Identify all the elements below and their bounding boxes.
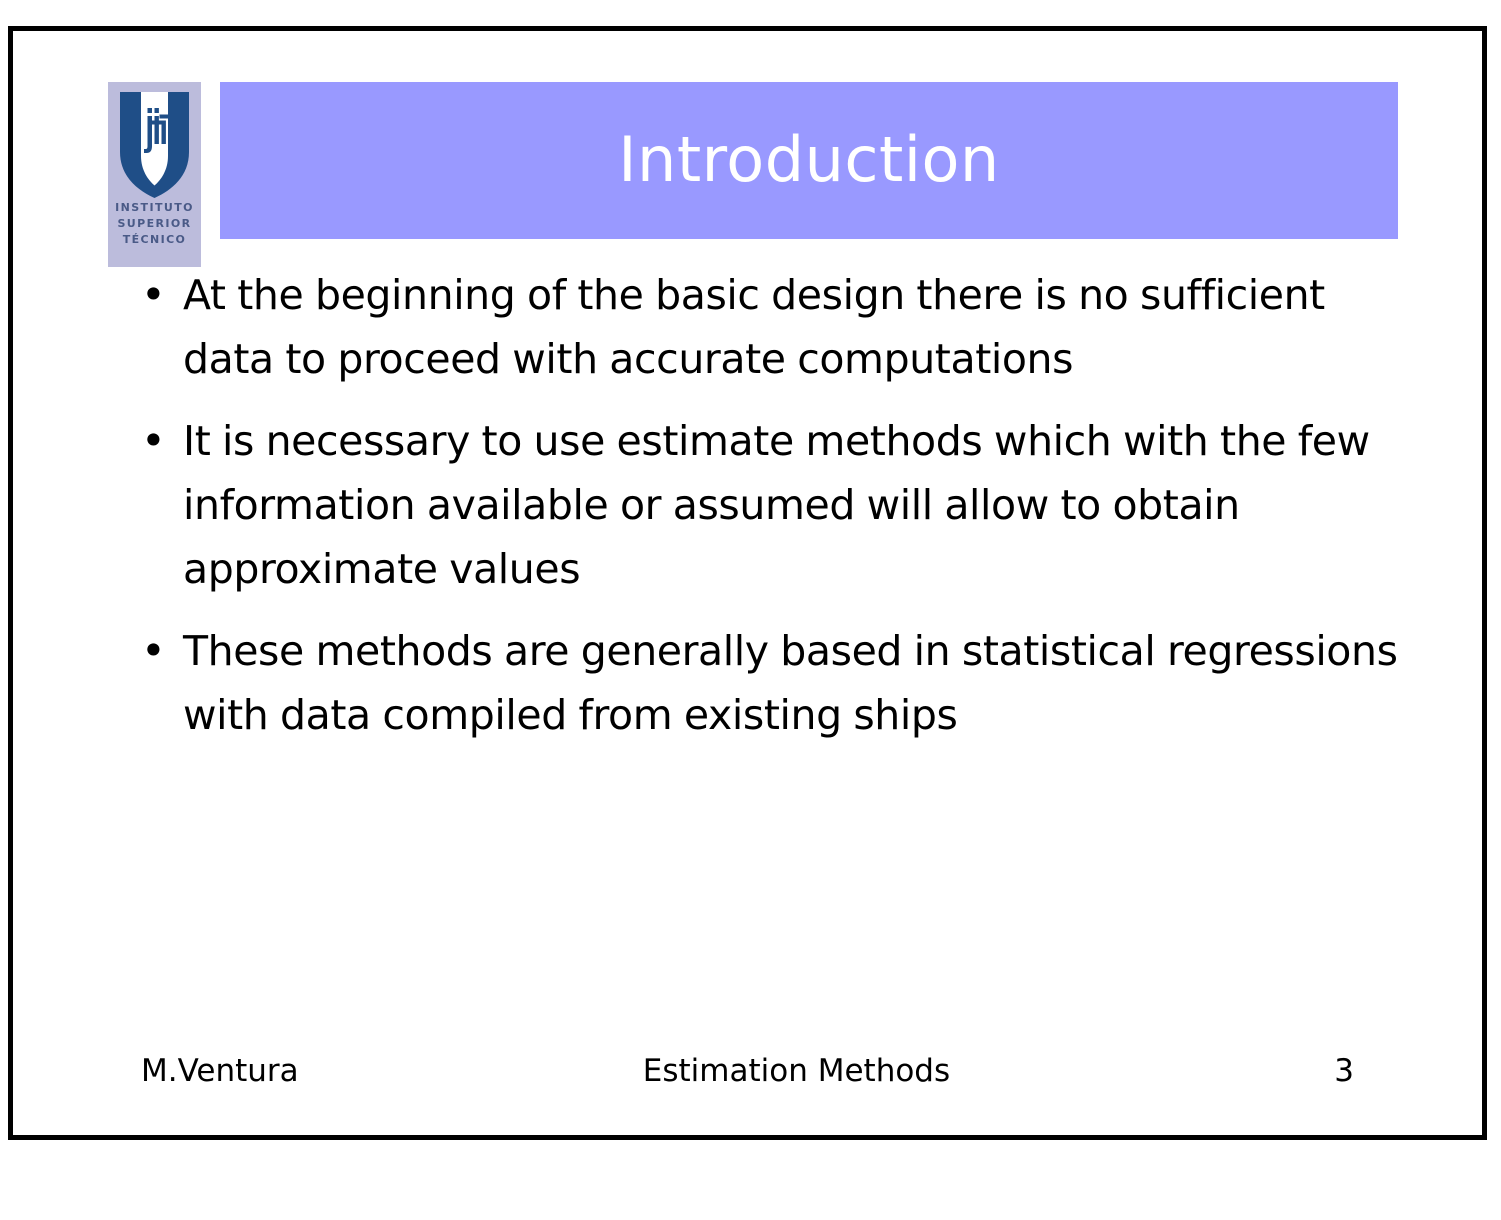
list-item: • It is necessary to use estimate method… [131,409,1421,601]
slide-footer: M.Ventura Estimation Methods 3 [31,1047,1464,1095]
slide-frame: INSTITUTO SUPERIOR TÉCNICO Introduction … [8,26,1487,1140]
footer-page-number: 3 [1334,1051,1464,1091]
list-item: • These methods are generally based in s… [131,619,1421,747]
page-title: Introduction [220,123,1398,196]
ist-wordmark-line-1: INSTITUTO [108,200,201,216]
list-item-text: These methods are generally based in sta… [183,619,1421,747]
list-item-text: At the beginning of the basic design the… [183,263,1421,391]
ist-shield-icon [118,90,191,200]
footer-author: M.Ventura [31,1051,299,1091]
ist-wordmark: INSTITUTO SUPERIOR TÉCNICO [108,200,201,248]
ist-logo: INSTITUTO SUPERIOR TÉCNICO [108,82,201,267]
ist-wordmark-line-2: SUPERIOR [108,216,201,232]
list-item-text: It is necessary to use estimate methods … [183,409,1421,601]
title-bar: Introduction [220,82,1398,239]
list-item: • At the beginning of the basic design t… [131,263,1421,391]
bullet-icon: • [131,409,183,473]
footer-subject: Estimation Methods [299,1051,1335,1091]
bullet-list: • At the beginning of the basic design t… [131,263,1421,765]
bullet-icon: • [131,263,183,327]
bullet-icon: • [131,619,183,683]
ist-wordmark-line-3: TÉCNICO [108,232,201,248]
